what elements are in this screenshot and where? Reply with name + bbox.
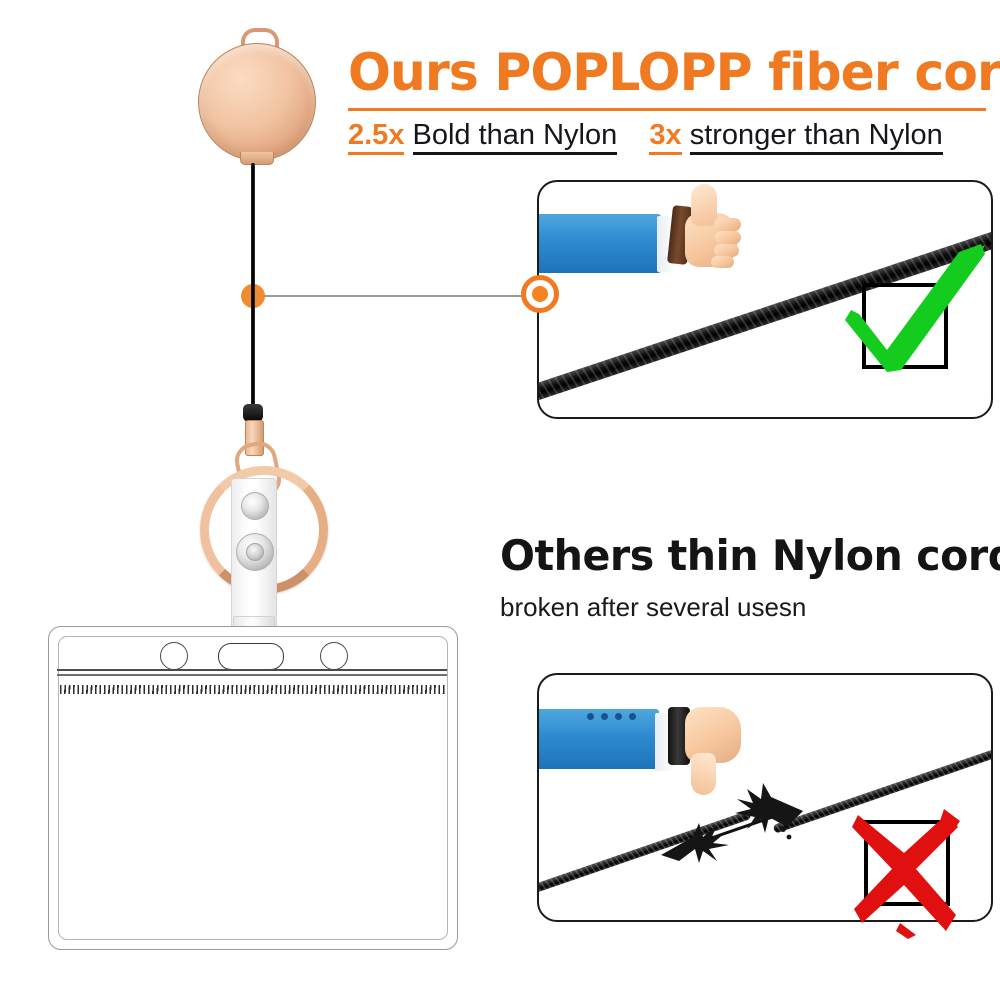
sleeve-good (539, 214, 661, 273)
others-subheading: broken after several usesn (500, 592, 806, 622)
cross-icon (844, 803, 969, 938)
metric-strength-label: stronger than Nylon (690, 119, 943, 155)
zip-rail-upper (57, 669, 447, 671)
sleeve-button-2 (601, 713, 608, 720)
strap-snap-bottom (236, 533, 274, 571)
metric-strength-value: 3x (649, 119, 681, 155)
reel-cord-exit (240, 152, 274, 165)
sleeve-button-4 (629, 713, 636, 720)
headline-block: Ours POPLOPP fiber cord (348, 44, 988, 102)
ours-fiber-cord-panel (537, 180, 993, 419)
check-icon (835, 242, 995, 377)
sleeve-button-1 (587, 713, 594, 720)
product-infographic: Ours POPLOPP fiber cord 2.5x Bold than N… (0, 0, 1000, 1000)
finger-4 (711, 256, 734, 268)
finger-2 (715, 231, 741, 244)
headline-divider (348, 108, 986, 111)
sleeve-bad (539, 709, 659, 769)
card-holder-center-slot (218, 643, 284, 670)
zip-teeth (60, 685, 446, 694)
page-title: Ours POPLOPP fiber cord (348, 44, 969, 102)
others-nylon-cord-panel (537, 673, 993, 922)
id-card-holder-inner-edge (58, 636, 448, 940)
thumb-up (691, 184, 717, 226)
metric-bold-value: 2.5x (348, 119, 404, 155)
sleeve-button-3 (615, 713, 622, 720)
others-heading: Others thin Nylon cord (500, 533, 1000, 579)
callout-line (252, 295, 535, 297)
strap-snap-top (241, 492, 269, 520)
card-holder-hole-right (320, 642, 348, 670)
headline-subtitle: 2.5x Bold than Nylon 3x stronger than Ny… (348, 118, 996, 152)
retractable-badge-reel (198, 43, 316, 161)
card-holder-hole-left (160, 642, 188, 670)
callout-target-marker (521, 275, 559, 313)
fray-right-icon (727, 771, 847, 851)
metric-bold-label: Bold than Nylon (413, 119, 618, 155)
product-fiber-cord (251, 163, 255, 413)
thumb-down (691, 753, 716, 795)
zip-rail-lower (57, 674, 447, 676)
finger-1 (714, 218, 741, 231)
